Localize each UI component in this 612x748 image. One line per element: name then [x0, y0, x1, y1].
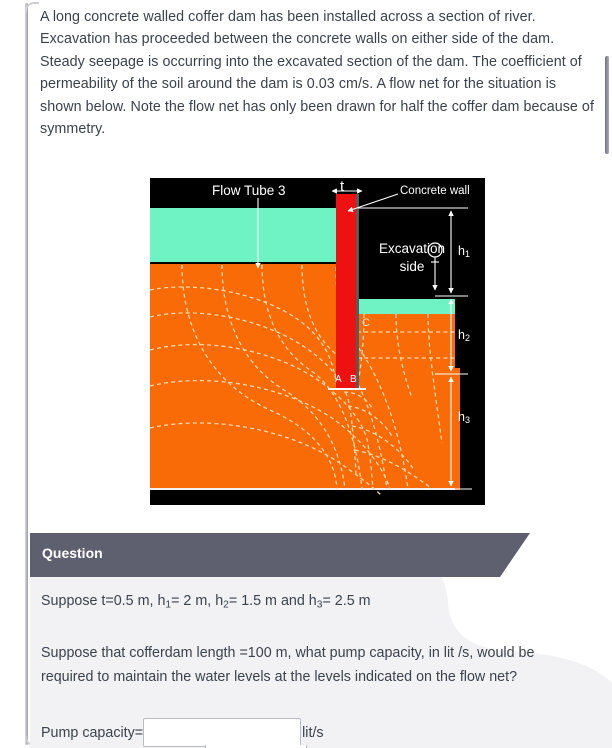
figure-annotations: [150, 178, 485, 505]
question-header-title: Question: [42, 545, 103, 561]
given-h1-val: = 2 m,: [171, 593, 215, 609]
question-page: A long concrete walled coffer dam has be…: [0, 0, 612, 748]
concrete-wall-label: Concrete wall: [400, 185, 470, 197]
pump-capacity-input[interactable]: [143, 718, 301, 747]
excavation-side-line2: side: [400, 259, 425, 274]
card-left-border-top-corner: [25, 2, 39, 12]
flow-net-figure: Flow Tube 3 t Concrete wall Excavation s…: [150, 178, 485, 505]
question-body-text: Suppose that cofferdam length =100 m, wh…: [41, 641, 582, 689]
given-values-line: Suppose t=0.5 m, h1= 2 m, h2= 1.5 m and …: [41, 593, 371, 610]
h3-dimension-label: h3: [458, 410, 470, 425]
problem-statement: A long concrete walled coffer dam has be…: [40, 6, 596, 140]
pump-capacity-unit: lit/s: [302, 725, 323, 741]
given-prefix: Suppose t=0.5 m,: [41, 593, 157, 609]
given-h2-val: = 1.5 m and: [229, 593, 309, 609]
h3-subscript: 3: [465, 415, 470, 425]
answer-row: Pump capacity= lit/s: [41, 718, 324, 747]
h2-subscript: 2: [465, 333, 470, 343]
pump-capacity-label: Pump capacity=: [41, 725, 143, 741]
h2-base: h: [458, 328, 465, 342]
given-h3: h: [309, 593, 317, 609]
point-a-label: A: [335, 374, 342, 385]
h2-dimension-label: h2: [458, 328, 470, 343]
h1-dimension-label: h1: [458, 244, 470, 259]
given-h3-val: = 2.5 m: [322, 593, 370, 609]
h3-base: h: [458, 410, 465, 424]
card-left-border: [25, 3, 28, 745]
question-header-bar: [30, 533, 530, 577]
excavation-side-line1: Excavation: [379, 241, 445, 256]
excavation-side-label: Excavation side: [363, 240, 461, 276]
h1-subscript: 1: [465, 249, 470, 259]
point-c-label: C: [362, 317, 370, 329]
h1-base: h: [458, 244, 465, 258]
flow-tube-label: Flow Tube 3: [212, 183, 286, 198]
question-card: Question Suppose t=0.5 m, h1= 2 m, h2= 1…: [30, 533, 612, 748]
point-b-label: B: [350, 374, 357, 385]
wall-thickness-label: t: [340, 178, 344, 195]
vertical-scrollbar-thumb[interactable]: [605, 56, 609, 154]
given-h2: h: [215, 593, 223, 609]
